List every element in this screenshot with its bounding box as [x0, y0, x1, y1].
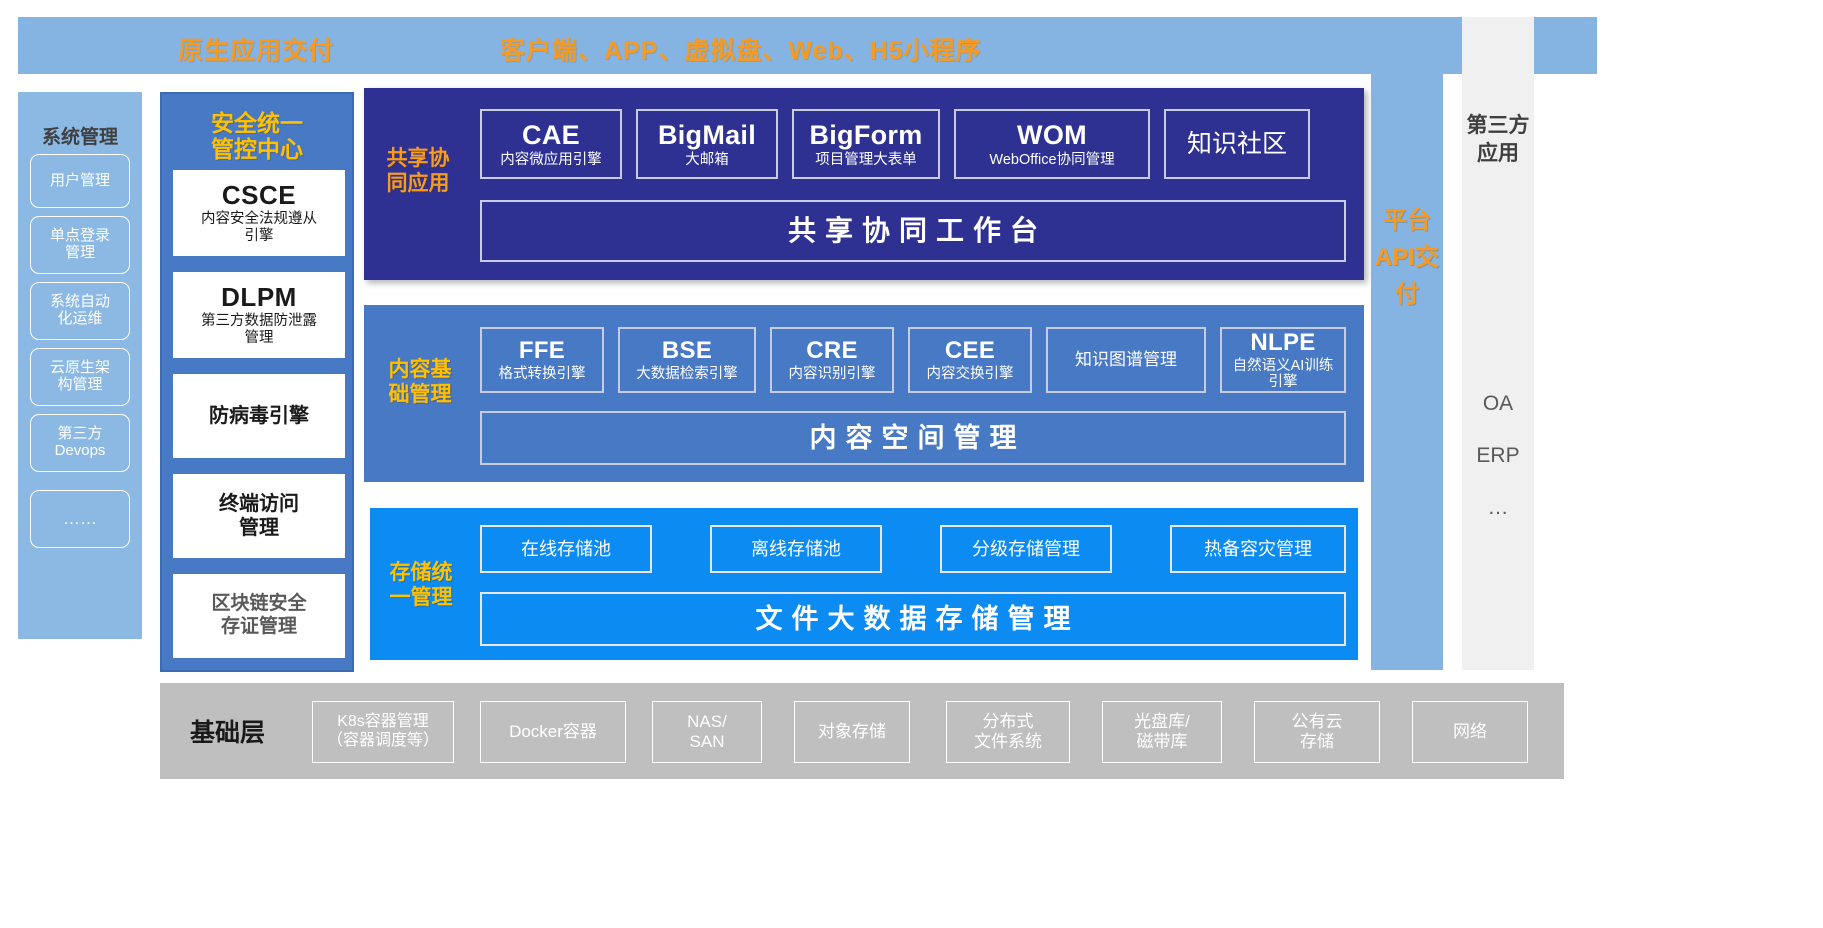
storage-item-hot-standby[interactable]: 热备容灾管理	[1170, 525, 1346, 573]
third-party-item-erp[interactable]: ERP	[1462, 444, 1534, 468]
collab-app-bigform[interactable]: BigForm 项目管理大表单	[792, 109, 940, 179]
content-engine-cre[interactable]: CRE 内容识别引擎	[770, 327, 894, 393]
cre-acronym: CRE	[806, 338, 858, 365]
platform-api-column: 平台API交付	[1371, 17, 1443, 670]
sysmgmt-item-devops[interactable]: 第三方Devops	[30, 414, 130, 472]
antivirus-label: 防病毒引擎	[209, 404, 309, 428]
storage-item-offline-pool[interactable]: 离线存储池	[710, 525, 882, 573]
native-app-delivery-banner: 原生应用交付 客户端、APP、虚拟盘、Web、H5小程序	[18, 17, 1597, 74]
security-item-dlpm[interactable]: DLPM 第三方数据防泄露管理	[173, 272, 345, 358]
bse-acronym: BSE	[662, 338, 712, 365]
infrastructure-title: 基础层	[190, 713, 265, 749]
infra-item-object[interactable]: 对象存储	[794, 701, 910, 763]
security-item-terminal-access[interactable]: 终端访问管理	[173, 474, 345, 558]
content-engine-nlpe[interactable]: NLPE 自然语义AI训练引擎	[1220, 327, 1346, 393]
infra-item-docker[interactable]: Docker容器	[480, 701, 626, 763]
sysmgmt-item-cloudnative[interactable]: 云原生架构管理	[30, 348, 130, 406]
security-item-blockchain[interactable]: 区块链安全存证管理	[173, 574, 345, 658]
content-engine-ffe[interactable]: FFE 格式转换引擎	[480, 327, 604, 393]
banner-right-label: 客户端、APP、虚拟盘、Web、H5小程序	[500, 31, 982, 67]
architecture-diagram: 原生应用交付 客户端、APP、虚拟盘、Web、H5小程序 系统管理 用户管理 单…	[0, 0, 1823, 928]
dlpm-acronym: DLPM	[221, 283, 297, 312]
sysmgmt-item-user[interactable]: 用户管理	[30, 154, 130, 208]
storage-item-online-pool[interactable]: 在线存储池	[480, 525, 652, 573]
storage-panel-wrapper: 存储统一管理 在线存储池 离线存储池 分级存储管理 热备容灾管理 文件大数据存储…	[364, 498, 1364, 670]
infra-item-network[interactable]: 网络	[1412, 701, 1528, 763]
collab-app-wom[interactable]: WOM WebOffice协同管理	[954, 109, 1150, 179]
sysmgmt-item-sso[interactable]: 单点登录管理	[30, 216, 130, 274]
third-party-title: 第三方应用	[1462, 112, 1534, 169]
infrastructure-layer: 基础层 K8s容器管理（容器调度等） Docker容器 NAS/SAN 对象存储…	[160, 683, 1564, 779]
nlpe-acronym: NLPE	[1250, 330, 1315, 357]
cee-subtitle: 内容交换引擎	[927, 366, 1014, 382]
ffe-subtitle: 格式转换引擎	[499, 366, 586, 382]
bse-subtitle: 大数据检索引擎	[636, 366, 738, 382]
security-control-column: 安全统一管控中心 CSCE 内容安全法规遵从引擎 DLPM 第三方数据防泄露管理…	[160, 92, 354, 672]
ffe-acronym: FFE	[519, 338, 565, 365]
cre-subtitle: 内容识别引擎	[789, 366, 876, 382]
system-management-title: 系统管理	[18, 122, 142, 149]
knowledge-graph-label: 知识图谱管理	[1075, 350, 1177, 369]
platform-api-label: 平台API交付	[1371, 202, 1443, 314]
content-space-management[interactable]: 内容空间管理	[480, 411, 1346, 465]
storage-item-tiered[interactable]: 分级存储管理	[940, 525, 1112, 573]
infra-item-dfs[interactable]: 分布式文件系统	[946, 701, 1070, 763]
csce-subtitle: 内容安全法规遵从引擎	[201, 211, 317, 244]
bigform-acronym: BigForm	[809, 120, 922, 150]
content-engine-cee[interactable]: CEE 内容交换引擎	[908, 327, 1032, 393]
wom-acronym: WOM	[1017, 120, 1087, 150]
infra-item-optical[interactable]: 光盘库/磁带库	[1102, 701, 1222, 763]
content-base-panel: 内容基础管理 FFE 格式转换引擎 BSE 大数据检索引擎 CRE 内容识别引擎…	[364, 305, 1364, 482]
third-party-item-oa[interactable]: OA	[1462, 392, 1534, 416]
knowledge-community-label: 知识社区	[1187, 130, 1287, 158]
content-engine-knowledge-graph[interactable]: 知识图谱管理	[1046, 327, 1206, 393]
dlpm-subtitle: 第三方数据防泄露管理	[201, 313, 317, 346]
security-item-antivirus[interactable]: 防病毒引擎	[173, 374, 345, 458]
csce-acronym: CSCE	[222, 181, 296, 210]
wom-subtitle: WebOffice协同管理	[989, 152, 1114, 168]
nlpe-subtitle: 自然语义AI训练引擎	[1233, 358, 1334, 390]
collab-app-cae[interactable]: CAE 内容微应用引擎	[480, 109, 622, 179]
infra-item-nas-san[interactable]: NAS/SAN	[652, 701, 762, 763]
bigmail-subtitle: 大邮箱	[685, 152, 729, 168]
banner-left-label: 原生应用交付	[178, 31, 334, 67]
file-bigdata-storage-management[interactable]: 文件大数据存储管理	[480, 592, 1346, 646]
shared-collaboration-workbench[interactable]: 共享协同工作台	[480, 200, 1346, 262]
third-party-item-more[interactable]: …	[1462, 496, 1534, 520]
cee-acronym: CEE	[945, 338, 995, 365]
content-base-label: 内容基础管理	[376, 357, 464, 407]
cae-subtitle: 内容微应用引擎	[500, 152, 602, 168]
cae-acronym: CAE	[522, 120, 580, 150]
collaboration-label: 共享协同应用	[378, 146, 458, 196]
infra-item-k8s[interactable]: K8s容器管理（容器调度等）	[312, 701, 454, 763]
bigmail-acronym: BigMail	[658, 120, 756, 150]
sysmgmt-item-more[interactable]: ……	[30, 490, 130, 548]
system-management-column: 系统管理 用户管理 单点登录管理 系统自动化运维 云原生架构管理 第三方Devo…	[18, 92, 142, 639]
unified-storage-panel: 存储统一管理 在线存储池 离线存储池 分级存储管理 热备容灾管理 文件大数据存储…	[370, 508, 1358, 660]
infra-item-public-cloud[interactable]: 公有云存储	[1254, 701, 1380, 763]
collab-app-knowledge-community[interactable]: 知识社区	[1164, 109, 1310, 179]
security-item-csce[interactable]: CSCE 内容安全法规遵从引擎	[173, 170, 345, 256]
storage-label: 存储统一管理	[378, 560, 464, 610]
third-party-column: 第三方应用 OA ERP …	[1462, 17, 1534, 670]
shared-collaboration-panel: 共享协同应用 CAE 内容微应用引擎 BigMail 大邮箱 BigForm 项…	[364, 88, 1364, 280]
sysmgmt-item-automation[interactable]: 系统自动化运维	[30, 282, 130, 340]
blockchain-label: 区块链安全存证管理	[211, 593, 306, 639]
bigform-subtitle: 项目管理大表单	[815, 152, 917, 168]
collab-app-bigmail[interactable]: BigMail 大邮箱	[636, 109, 778, 179]
content-engine-bse[interactable]: BSE 大数据检索引擎	[618, 327, 756, 393]
security-control-title: 安全统一管控中心	[162, 110, 352, 163]
terminal-access-label: 终端访问管理	[219, 492, 299, 540]
